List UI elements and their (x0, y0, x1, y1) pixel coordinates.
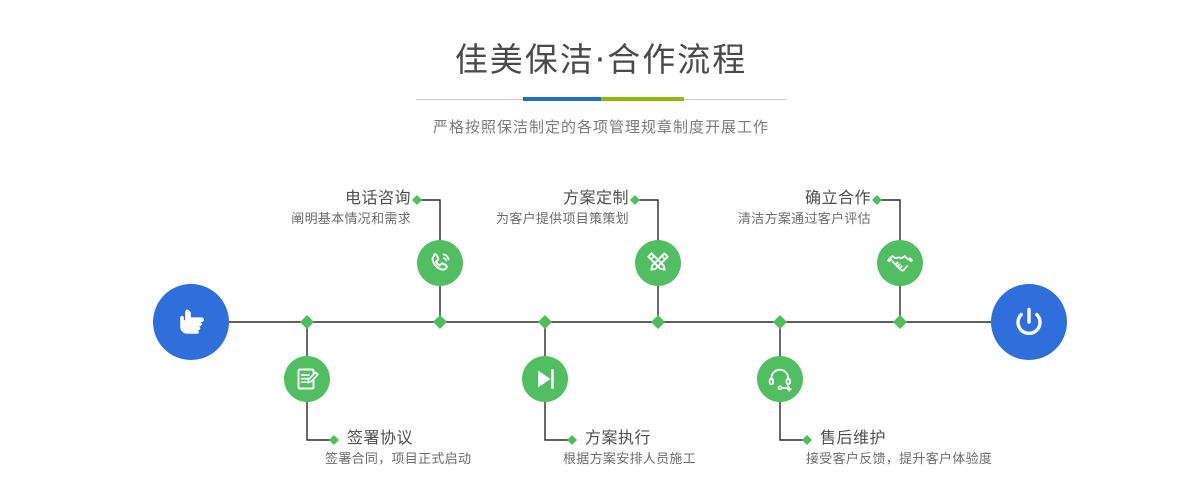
pencil-ruler-icon (644, 249, 672, 277)
headset-support-icon (766, 365, 794, 393)
timeline-end-node[interactable] (991, 284, 1067, 360)
flow-diagram-page: 佳美保洁·合作流程 严格按照保洁制定的各项管理规章制度开展工作 (0, 0, 1202, 502)
step-desc: 签署合同，项目正式启动 (325, 451, 577, 469)
leader-phone-consult (419, 200, 440, 240)
leader-plan-custom (637, 200, 658, 240)
step-desc: 接受客户反馈，提升客户体验度 (806, 451, 1070, 469)
label-anchor-diamonds (329, 195, 882, 445)
step-desc: 阐明基本情况和需求 (239, 211, 411, 229)
step-icon-plan-execute[interactable] (522, 356, 568, 402)
phone-call-icon (426, 249, 454, 277)
diamond-node (651, 315, 665, 329)
power-icon (1007, 300, 1051, 344)
step-icon-plan-custom[interactable] (635, 240, 681, 286)
step-desc: 根据方案安排人员施工 (563, 451, 815, 469)
diamond-node (773, 315, 787, 329)
step-label-sign-agreement: 签署协议 签署合同，项目正式启动 (347, 428, 577, 469)
leader-establish-cooperation (879, 200, 900, 240)
step-label-after-sales: 售后维护 接受客户反馈，提升客户体验度 (820, 428, 1070, 469)
step-title: 签署协议 (347, 428, 577, 448)
step-title: 售后维护 (820, 428, 1070, 448)
step-desc: 为客户提供项目策策划 (457, 211, 629, 229)
diamond-node (300, 315, 314, 329)
document-edit-icon (293, 365, 321, 393)
pointing-hand-icon (169, 300, 213, 344)
label-diamond (412, 195, 422, 205)
step-label-plan-execute: 方案执行 根据方案安排人员施工 (585, 428, 815, 469)
timeline-start-node[interactable] (153, 284, 229, 360)
step-title: 确立合作 (699, 188, 871, 208)
label-diamond (872, 195, 882, 205)
diamond-node (893, 315, 907, 329)
step-label-establish-cooperation: 确立合作 清洁方案通过客户评估 (699, 188, 871, 229)
step-desc: 清洁方案通过客户评估 (699, 211, 871, 229)
timeline (0, 0, 1202, 502)
step-label-plan-custom: 方案定制 为客户提供项目策策划 (457, 188, 629, 229)
step-title: 方案定制 (457, 188, 629, 208)
play-skip-icon (531, 365, 559, 393)
label-diamond (329, 435, 339, 445)
handshake-icon (886, 249, 914, 277)
step-title: 电话咨询 (239, 188, 411, 208)
label-diamond (630, 195, 640, 205)
diamond-node (538, 315, 552, 329)
step-title: 方案执行 (585, 428, 815, 448)
diamond-node (433, 315, 447, 329)
step-icon-establish-cooperation[interactable] (877, 240, 923, 286)
step-icon-sign-agreement[interactable] (284, 356, 330, 402)
step-icon-after-sales[interactable] (757, 356, 803, 402)
timeline-connectors (0, 0, 1202, 502)
step-label-phone-consult: 电话咨询 阐明基本情况和需求 (239, 188, 411, 229)
step-icon-phone-consult[interactable] (417, 240, 463, 286)
leader-sign-agreement (307, 402, 332, 440)
